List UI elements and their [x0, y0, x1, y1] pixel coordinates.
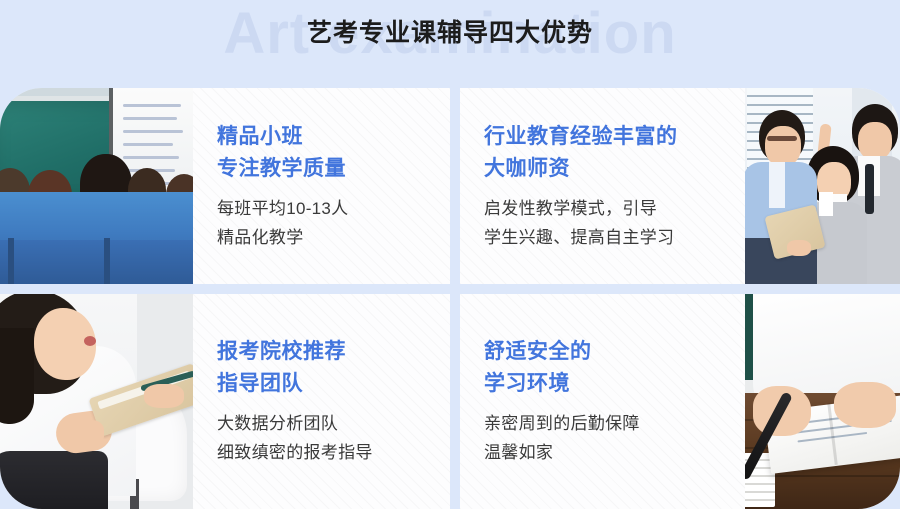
- card-text-block: 行业教育经验丰富的 大咖师资 启发性教学模式，引导 学生兴趣、提高自主学习: [460, 88, 745, 284]
- card-heading: 精品小班 专注教学质量: [217, 121, 436, 185]
- teacher-and-students-photo: [745, 88, 900, 284]
- card-heading: 报考院校推荐 指导团队: [217, 336, 436, 400]
- classroom-students-photo: [0, 88, 193, 284]
- advantage-card-grid: 精品小班 专注教学质量 每班平均10-13人 精品化教学: [0, 88, 900, 509]
- card-text-block: 舒适安全的 学习环境 亲密周到的后勤保障 温馨如家: [460, 294, 745, 509]
- banner-header: Art examination 艺考专业课辅导四大优势: [0, 0, 900, 88]
- advantage-card[interactable]: 舒适安全的 学习环境 亲密周到的后勤保障 温馨如家: [460, 294, 900, 509]
- counselor-with-clipboard-photo: [0, 294, 193, 509]
- card-body: 亲密周到的后勤保障 温馨如家: [484, 409, 731, 467]
- card-heading: 行业教育经验丰富的 大咖师资: [484, 121, 731, 185]
- advantage-card[interactable]: 行业教育经验丰富的 大咖师资 启发性教学模式，引导 学生兴趣、提高自主学习: [460, 88, 900, 284]
- page-title: 艺考专业课辅导四大优势: [0, 16, 900, 50]
- card-body: 大数据分析团队 细致缜密的报考指导: [217, 409, 436, 467]
- promo-banner: Art examination 艺考专业课辅导四大优势: [0, 0, 900, 509]
- card-body: 启发性教学模式，引导 学生兴趣、提高自主学习: [484, 194, 731, 252]
- card-text-block: 精品小班 专注教学质量 每班平均10-13人 精品化教学: [193, 88, 450, 284]
- card-body: 每班平均10-13人 精品化教学: [217, 194, 436, 252]
- advantage-card[interactable]: 精品小班 专注教学质量 每班平均10-13人 精品化教学: [0, 88, 450, 284]
- card-text-block: 报考院校推荐 指导团队 大数据分析团队 细致缜密的报考指导: [193, 294, 450, 509]
- advantage-card[interactable]: 报考院校推荐 指导团队 大数据分析团队 细致缜密的报考指导: [0, 294, 450, 509]
- student-writing-notes-photo: [745, 294, 900, 509]
- card-heading: 舒适安全的 学习环境: [484, 336, 731, 400]
